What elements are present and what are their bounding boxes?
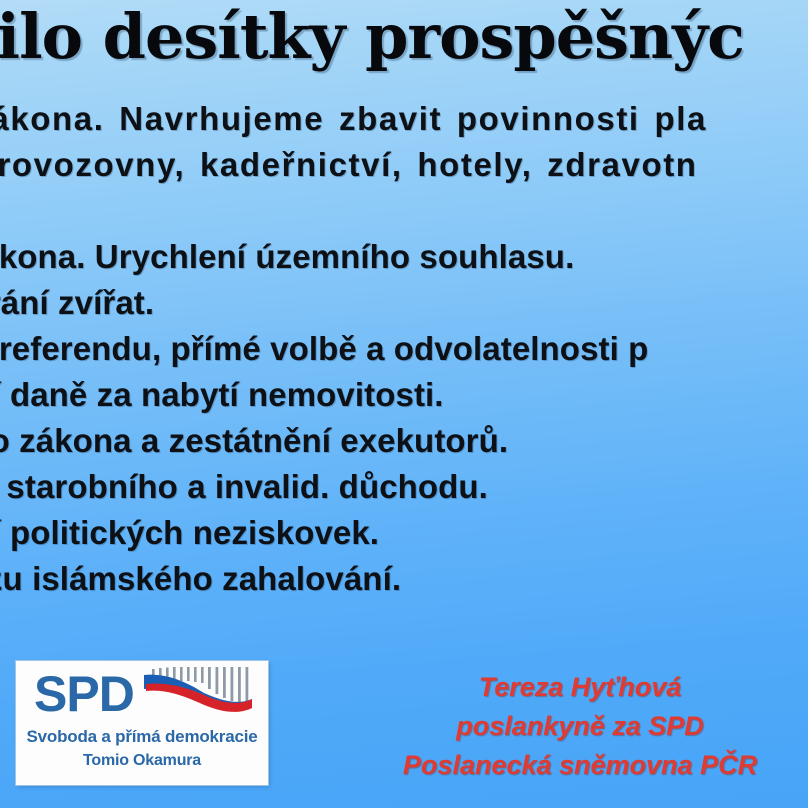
list-item: ho zákona. Urychlení územního souhlasu. — [0, 234, 808, 280]
signature-role: poslankyně za SPD — [370, 707, 790, 746]
list-item: ování politických neziskovek. — [0, 510, 808, 556]
list-item-spacer — [0, 188, 808, 234]
signature-institution: Poslanecká sněmovna PČR — [370, 746, 790, 785]
logo-wordmark: SPD — [34, 667, 134, 721]
spd-logo: SPD — [16, 661, 268, 785]
signature-block: Tereza Hyťhová poslankyně za SPD Poslane… — [370, 668, 790, 785]
list-item: ho zákona. Navrhujeme zbavit povinnosti … — [0, 96, 808, 142]
list-item: tp) provozovny, kadeřnictví, hotely, zdr… — [0, 142, 808, 188]
policy-list: ho zákona. Navrhujeme zbavit povinnosti … — [0, 96, 808, 602]
list-item: ušení daně za nabytí nemovitosti. — [0, 372, 808, 418]
signature-person-name: Tereza Hyťhová — [370, 668, 790, 707]
list-item: zákazu islámského zahalování. — [0, 556, 808, 602]
czech-flag-icon — [138, 665, 254, 723]
list-item: ského zákona a zestátnění exekutorů. — [0, 418, 808, 464]
list-item: . výši starobního a invalid. důchodu. — [0, 464, 808, 510]
poster-canvas: ožilo desítky prospěšnýc ho zákona. Navr… — [0, 0, 808, 808]
list-item: za týrání zvířat. — [0, 280, 808, 326]
page-title: ožilo desítky prospěšnýc — [0, 6, 808, 68]
logo-tagline: Svoboda a přímá demokracie — [16, 727, 268, 747]
logo-leader-name: Tomio Okamura — [16, 752, 268, 770]
list-item: PD o referendu, přímé volbě a odvolateln… — [0, 326, 808, 372]
logo-top-row: SPD — [16, 661, 268, 727]
